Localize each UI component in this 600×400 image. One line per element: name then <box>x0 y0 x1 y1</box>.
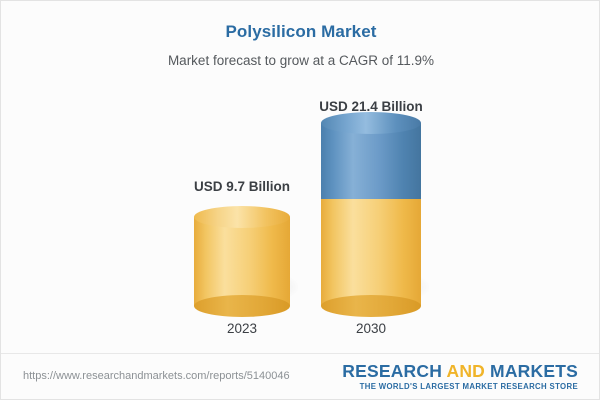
bar-segment-2030-upper <box>321 123 421 199</box>
bar-bottom-cap-2023 <box>194 295 290 317</box>
chart-screenshot: Polysilicon Market Market forecast to gr… <box>0 0 600 400</box>
brand-logo-research: RESEARCH <box>342 361 446 381</box>
chart-subtitle: Market forecast to grow at a CAGR of 11.… <box>1 53 600 68</box>
brand-logo[interactable]: RESEARCH AND MARKETS THE WORLD'S LARGEST… <box>342 362 578 391</box>
bar-group-2030: USD 21.4 Billion 2030 <box>321 81 421 343</box>
bar-2030[interactable] <box>321 123 421 306</box>
plot-area: USD 9.7 Billion 2023 USD 21.4 Billion <box>1 81 600 343</box>
footer-divider <box>1 353 600 354</box>
value-label-2023: USD 9.7 Billion <box>142 179 342 194</box>
bar-top-cap-2030 <box>321 112 421 134</box>
bar-segment-2023-base <box>194 217 290 306</box>
bar-group-2023: USD 9.7 Billion 2023 <box>194 81 290 343</box>
brand-logo-and: AND <box>446 361 485 381</box>
chart-title: Polysilicon Market <box>1 22 600 42</box>
category-label-2030: 2030 <box>271 321 471 336</box>
bar-segment-2030-lower <box>321 199 421 306</box>
brand-logo-markets: MARKETS <box>485 361 578 381</box>
bar-bottom-cap-2030 <box>321 295 421 317</box>
bar-top-cap-2023 <box>194 206 290 228</box>
bar-2023[interactable] <box>194 217 290 306</box>
brand-logo-tagline: THE WORLD'S LARGEST MARKET RESEARCH STOR… <box>342 382 578 391</box>
report-url[interactable]: https://www.researchandmarkets.com/repor… <box>23 370 290 382</box>
brand-logo-wordmark: RESEARCH AND MARKETS <box>342 362 578 380</box>
